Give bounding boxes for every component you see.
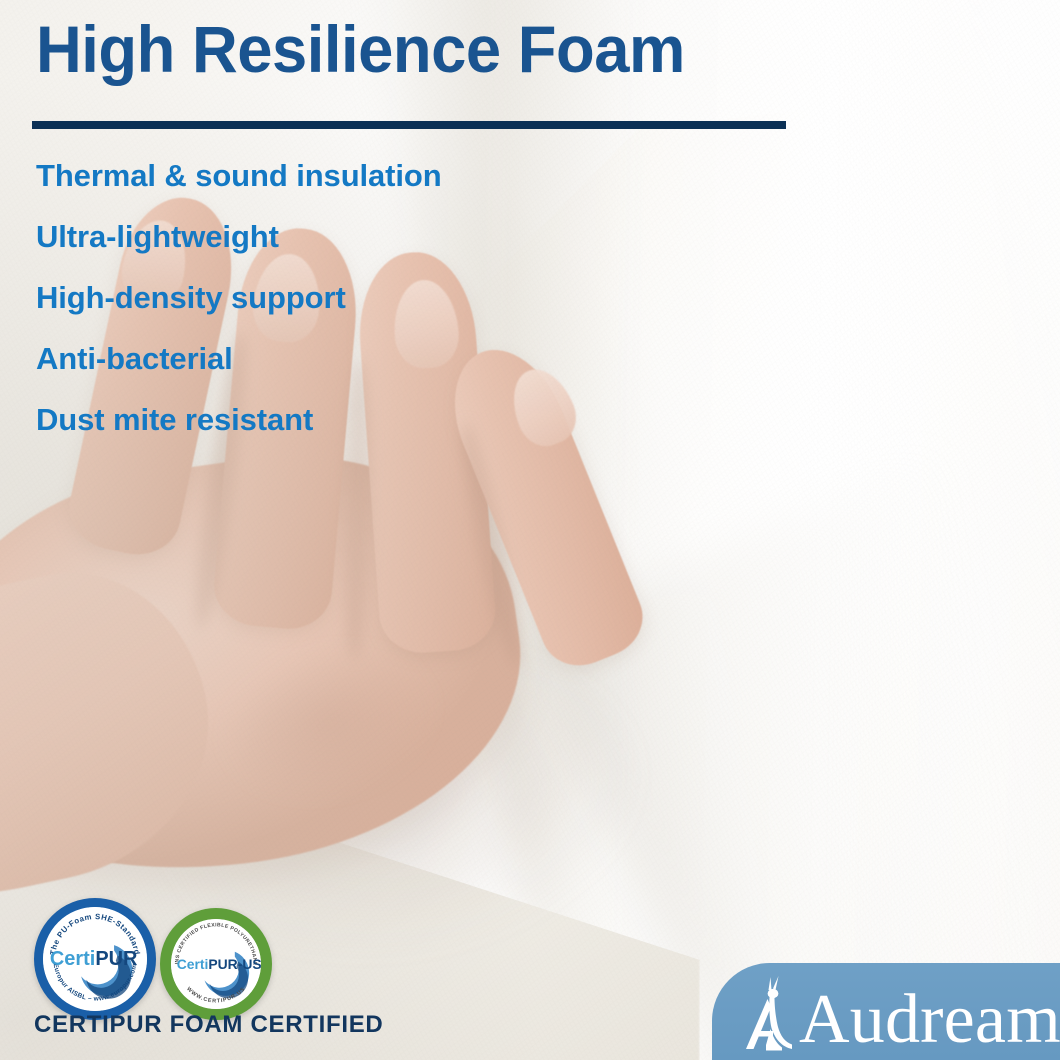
kangaroo-a-icon xyxy=(740,973,802,1053)
certification-caption: CERTIPUR FOAM CERTIFIED xyxy=(34,1011,383,1039)
feature-item-2: Ultra-lightweight xyxy=(36,221,676,252)
page-title: High Resilience Foam xyxy=(36,8,685,91)
eu-badge-center-text: CertiPUR xyxy=(50,948,137,970)
feature-item-4: Anti-bacterial xyxy=(36,343,676,374)
title-underline-rule xyxy=(32,121,786,129)
feature-item-3: High-density support xyxy=(36,282,676,313)
brand-logo-panel: Audreamy xyxy=(712,963,1060,1060)
certipur-us-badge: CONTAINS CERTIFIED FLEXIBLE POLYURETHANE… xyxy=(160,908,272,1020)
certipur-eu-badge: The PU-Foam SHE-Standard Europur AISBL –… xyxy=(34,898,156,1020)
feature-item-1: Thermal & sound insulation xyxy=(36,160,676,191)
brand-logo: Audreamy xyxy=(740,971,1060,1053)
us-badge-center-text: CertiPUR-US® xyxy=(177,956,261,972)
certification-badges: The PU-Foam SHE-Standard Europur AISBL –… xyxy=(34,882,334,1012)
product-infographic: High Resilience Foam Thermal & sound ins… xyxy=(0,0,1060,1060)
feature-item-5: Dust mite resistant xyxy=(36,404,676,435)
feature-list: Thermal & sound insulation Ultra-lightwe… xyxy=(36,160,676,465)
brand-name: Audreamy xyxy=(799,987,1060,1054)
